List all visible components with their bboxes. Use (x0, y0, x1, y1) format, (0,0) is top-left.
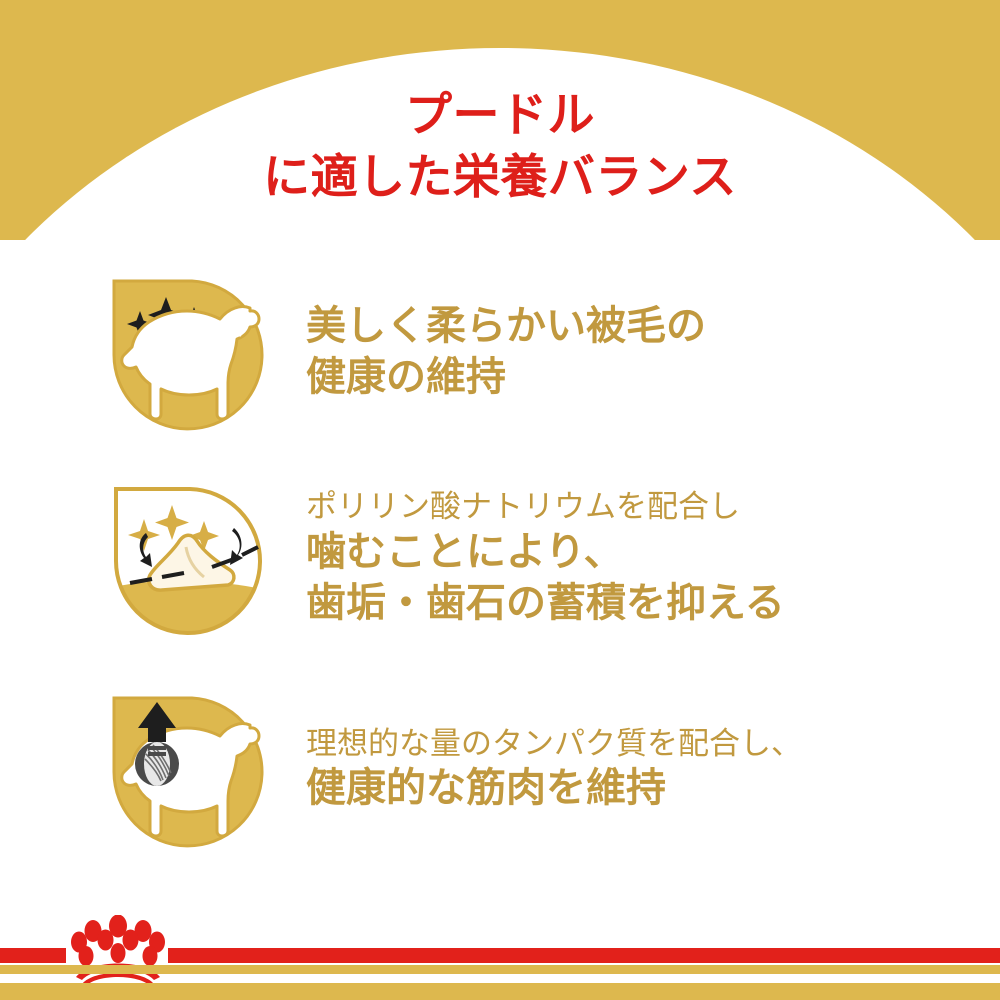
title-line-subject: に適した栄養バランス (0, 150, 1000, 204)
feature-list: 美しく柔らかい被毛の 健康の維持 (0, 256, 1000, 856)
feature-line: ポリリン酸ナトリウムを配合し (306, 487, 930, 527)
feature-line: 噛むことにより、 (306, 527, 930, 578)
product-feature-panel: プードル に適した栄養バランス (0, 0, 1000, 1000)
feature-row-dental-care: ポリリン酸ナトリウムを配合し 噛むことにより、 歯垢・歯石の蓄積を抑える (100, 468, 930, 648)
dog-muscle-arrow-icon (100, 684, 278, 854)
feature-line: 健康的な筋肉を維持 (306, 763, 930, 814)
footer-red-rule-right (168, 948, 1000, 963)
footer-gold-rule-thick (0, 983, 1000, 1000)
tooth-sparkle-icon (100, 473, 278, 643)
footer-red-rule-left (0, 948, 66, 963)
title-line-breed: プードル (0, 88, 1000, 142)
feature-line: 美しく柔らかい被毛の (306, 301, 930, 352)
footer-gold-rule-thin (0, 965, 1000, 974)
feature-row-coat-health: 美しく柔らかい被毛の 健康の維持 (100, 266, 930, 438)
feature-line: 健康の維持 (306, 352, 930, 403)
royal-canin-crown-logo (62, 915, 174, 987)
feature-line: 理想的な量のタンパク質を配合し、 (306, 724, 930, 764)
feature-text-dental-care: ポリリン酸ナトリウムを配合し 噛むことにより、 歯垢・歯石の蓄積を抑える (278, 487, 930, 629)
dog-coat-sparkle-icon (100, 267, 278, 437)
feature-row-muscle-support: 理想的な量のタンパク質を配合し、 健康的な筋肉を維持 (100, 684, 930, 854)
feature-text-coat-health: 美しく柔らかい被毛の 健康の維持 (278, 301, 930, 403)
feature-text-muscle-support: 理想的な量のタンパク質を配合し、 健康的な筋肉を維持 (278, 724, 930, 815)
page-title: プードル に適した栄養バランス (0, 88, 1000, 203)
feature-line: 歯垢・歯石の蓄積を抑える (306, 578, 930, 629)
